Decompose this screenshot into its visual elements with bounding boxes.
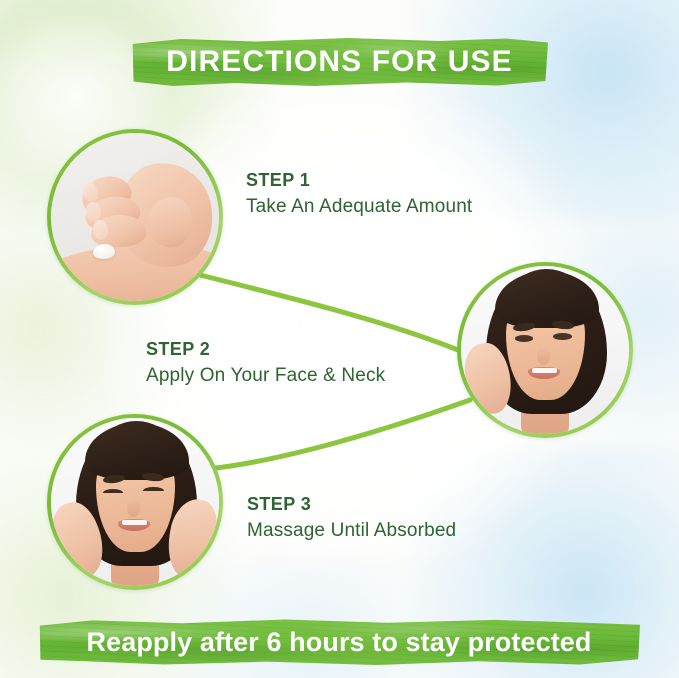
scene1-cream-drop (93, 244, 115, 259)
step-1-description: Take An Adequate Amount (246, 196, 472, 218)
scene2-nose (537, 347, 550, 365)
scene3-nose (127, 499, 140, 517)
step-2-description: Apply On Your Face & Neck (146, 365, 385, 387)
step-1-title: STEP 1 (246, 170, 472, 191)
scene2-teeth (532, 368, 557, 372)
step-2-text-block: STEP 2 Apply On Your Face & Neck (146, 339, 385, 387)
footer-banner-text: Reapply after 6 hours to stay protected (86, 627, 591, 658)
scene2-eye-right (553, 333, 571, 340)
connector-step2-to-step3 (195, 400, 470, 470)
woman-massaging-face-illustration (51, 418, 219, 586)
header-banner: DIRECTIONS FOR USE (131, 37, 548, 87)
header-banner-text: DIRECTIONS FOR USE (166, 45, 513, 79)
step-1-image-circle (47, 129, 223, 305)
scene3-teeth (122, 520, 147, 524)
step-3-photo (51, 418, 219, 586)
step-3-title: STEP 3 (247, 494, 456, 515)
step-1-photo (51, 133, 219, 301)
step-2-photo (461, 266, 629, 434)
directions-for-use-poster: DIRECTIONS FOR USE STEP 1 Take An Adequa… (0, 0, 679, 678)
step-3-text-block: STEP 3 Massage Until Absorbed (247, 494, 456, 542)
scene2-eye-left (515, 335, 533, 342)
step-2-image-circle (457, 262, 633, 438)
hand-dispensing-cream-illustration (51, 133, 219, 301)
footer-banner: Reapply after 6 hours to stay protected (38, 618, 640, 666)
scene3-eye-closed-right (143, 487, 163, 491)
step-3-description: Massage Until Absorbed (247, 520, 456, 542)
step-2-title: STEP 2 (146, 339, 385, 360)
woman-applying-cream-illustration (461, 266, 629, 434)
step-3-image-circle (47, 414, 223, 590)
step-1-text-block: STEP 1 Take An Adequate Amount (246, 170, 472, 218)
